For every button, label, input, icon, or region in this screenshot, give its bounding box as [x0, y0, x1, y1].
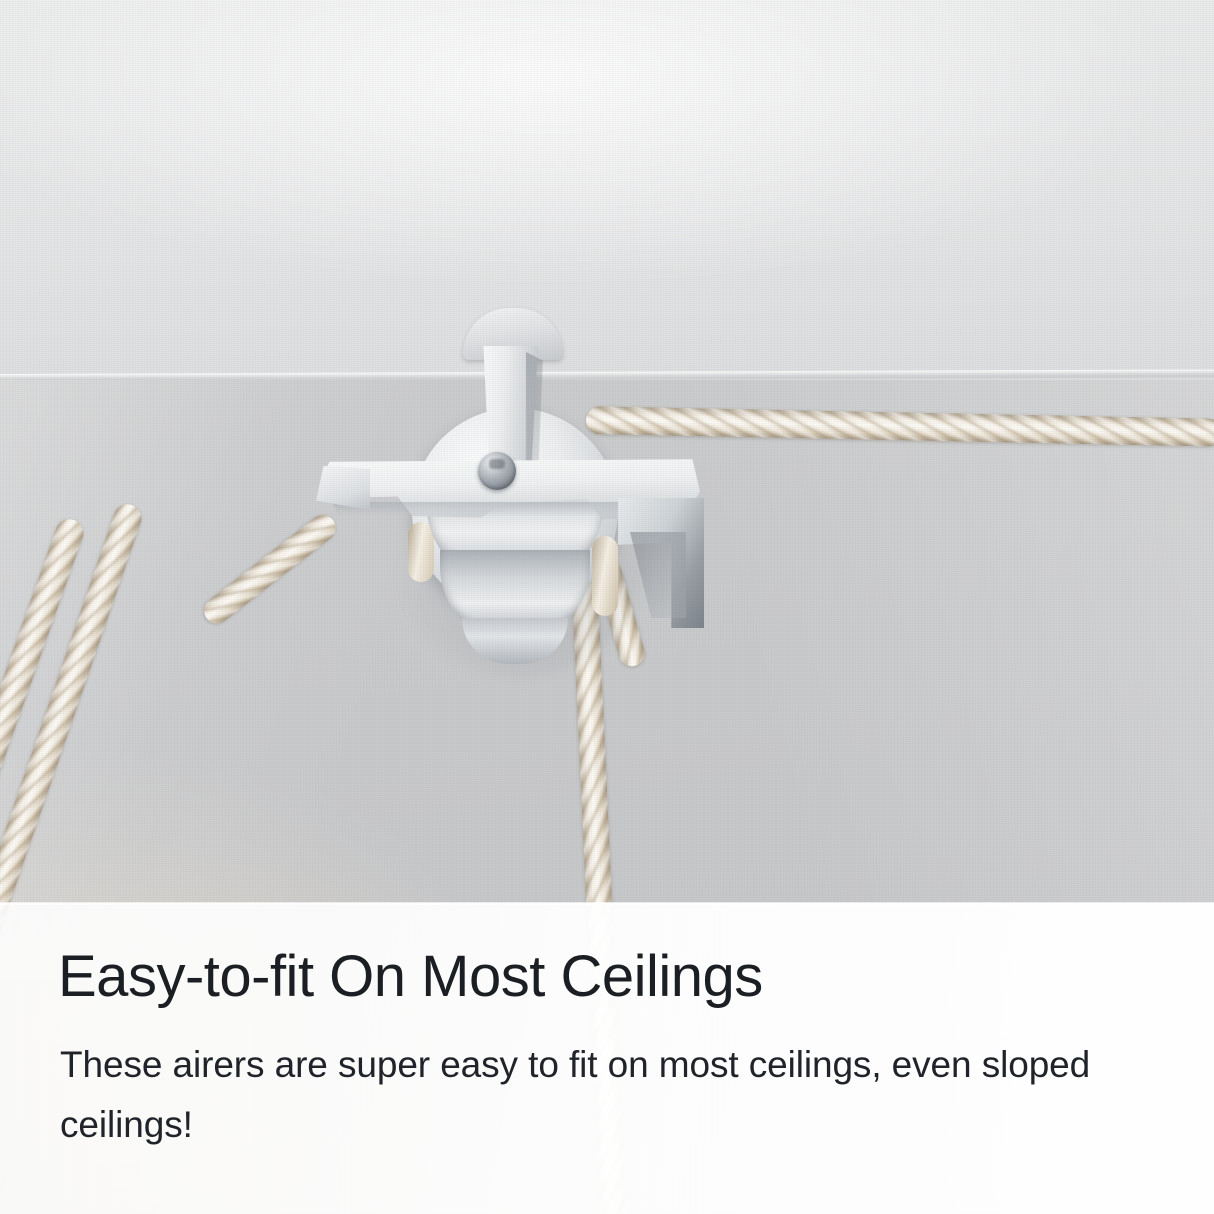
ceiling-pulley-assembly — [300, 300, 720, 700]
product-photo-scene: Easy-to-fit On Most Ceilings These airer… — [0, 0, 1214, 1214]
overlay-body-text: These airers are super easy to fit on mo… — [60, 1035, 1120, 1155]
screw-slot-icon — [489, 459, 505, 469]
pulley-hub — [462, 618, 568, 664]
overlay-headline: Easy-to-fit On Most Ceilings — [58, 945, 763, 1010]
caption-overlay-panel: Easy-to-fit On Most Ceilings These airer… — [0, 903, 1214, 1214]
overlay-top-divider — [0, 903, 1214, 905]
centre-screw-icon — [478, 452, 516, 490]
rope-in-groove-right — [592, 536, 618, 616]
bracket-right-flange-inner — [630, 532, 686, 618]
rope-in-groove-left — [408, 522, 434, 582]
